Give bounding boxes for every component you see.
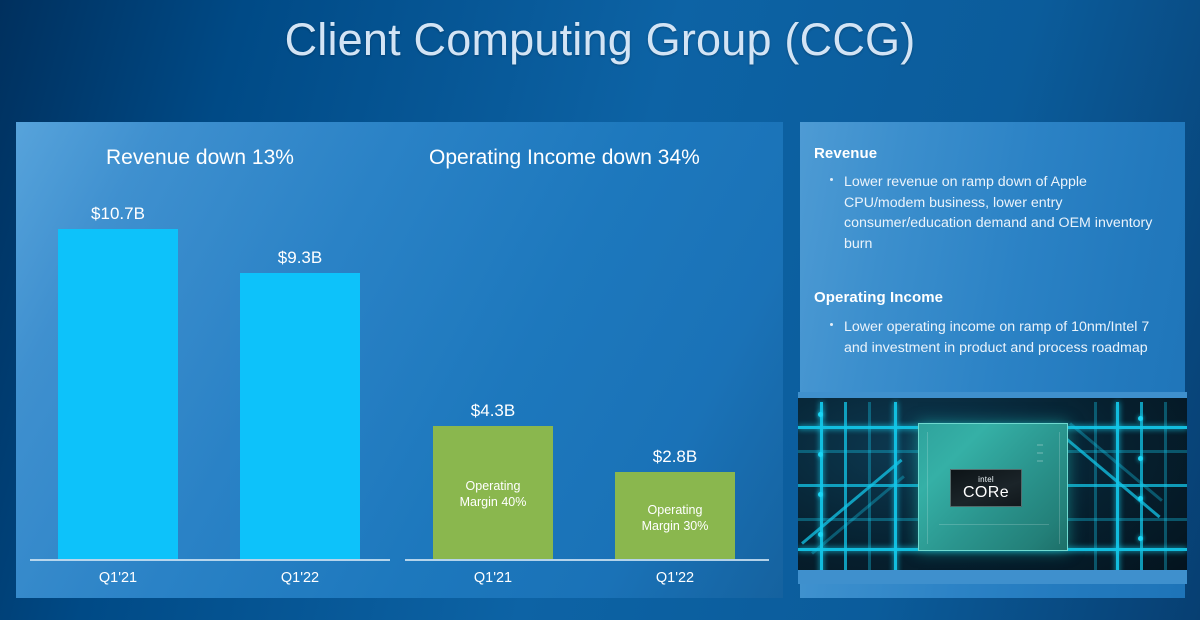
product-image: intel CORe xyxy=(798,392,1187,584)
operating-income-value-label-q1-21: $4.3B xyxy=(433,401,553,421)
notes-heading-operating-income: Operating Income xyxy=(814,289,943,306)
charts-panel: Revenue down 13% $10.7B $9.3B Q1'21 Q1'2… xyxy=(16,122,783,598)
circuit-node-icon xyxy=(1138,536,1143,541)
notes-bullet-text: Lower operating income on ramp of 10nm/I… xyxy=(844,317,1166,358)
operating-income-chart-title: Operating Income down 34% xyxy=(429,146,700,170)
notes-bullet-text: Lower revenue on ramp down of Apple CPU/… xyxy=(844,172,1166,254)
intel-core-logo: intel CORe xyxy=(950,469,1022,507)
circuit-node-icon xyxy=(818,412,823,417)
die-etching xyxy=(1059,432,1060,544)
notes-bullet-operating-income: Lower operating income on ramp of 10nm/I… xyxy=(830,317,1166,358)
operating-margin-line-1: Operating xyxy=(648,503,703,517)
revenue-axis-line xyxy=(30,559,390,561)
operating-margin-line-2: Margin 30% xyxy=(642,519,709,533)
intel-wordmark: intel xyxy=(978,475,994,484)
revenue-chart-title: Revenue down 13% xyxy=(106,146,294,170)
revenue-xtick-q1-21: Q1'21 xyxy=(58,570,178,586)
circuit-node-icon xyxy=(1138,496,1143,501)
photo-frame-bottom xyxy=(798,570,1187,584)
circuit-node-icon xyxy=(818,492,823,497)
operating-margin-label-q1-21: Operating Margin 40% xyxy=(433,478,553,510)
operating-income-xtick-q1-21: Q1'21 xyxy=(433,570,553,586)
photo-frame-top xyxy=(798,392,1187,398)
circuit-node-icon xyxy=(1138,416,1143,421)
die-etching xyxy=(927,432,928,544)
notes-bullet-revenue: Lower revenue on ramp down of Apple CPU/… xyxy=(830,172,1166,254)
die-etching xyxy=(1037,452,1043,454)
circuit-node-icon xyxy=(1138,456,1143,461)
revenue-xtick-q1-22: Q1'22 xyxy=(240,570,360,586)
revenue-value-label-q1-22: $9.3B xyxy=(240,248,360,268)
operating-margin-line-1: Operating xyxy=(466,479,521,493)
revenue-bar-q1-21 xyxy=(58,229,178,559)
page-title: Client Computing Group (CCG) xyxy=(0,14,1200,66)
core-wordmark: CORe xyxy=(963,484,1009,501)
die-etching xyxy=(1037,444,1043,446)
circuit-node-icon xyxy=(818,532,823,537)
operating-margin-line-2: Margin 40% xyxy=(460,495,527,509)
operating-income-xtick-q1-22: Q1'22 xyxy=(615,570,735,586)
die-etching xyxy=(1037,460,1043,462)
bullet-dot-icon xyxy=(830,323,833,326)
processor-die: intel CORe xyxy=(918,423,1068,551)
bullet-dot-icon xyxy=(830,178,833,181)
revenue-value-label-q1-21: $10.7B xyxy=(58,204,178,224)
circuit-node-icon xyxy=(818,452,823,457)
revenue-bar-q1-22 xyxy=(240,273,360,559)
operating-margin-label-q1-22: Operating Margin 30% xyxy=(615,502,735,534)
operating-income-value-label-q1-22: $2.8B xyxy=(615,447,735,467)
die-etching xyxy=(939,524,1049,525)
notes-heading-revenue: Revenue xyxy=(814,145,877,162)
operating-income-axis-line xyxy=(405,559,769,561)
